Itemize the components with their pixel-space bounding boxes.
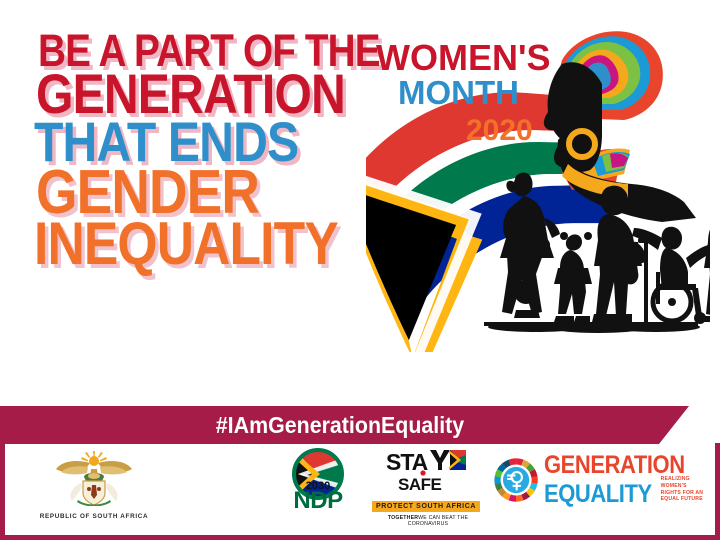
headline-line-5: INEQUALITY xyxy=(34,216,318,271)
frame-accent-bottom xyxy=(0,535,720,540)
ndp-logo-icon: 2030 NDP xyxy=(268,448,368,510)
logo-republic-of-south-africa: REPUBLIC OF SOUTH AFRICA xyxy=(24,448,164,520)
artwork-illustration: WOMEN'S MONTH 2020 xyxy=(366,22,710,352)
logo-row: REPUBLIC OF SOUTH AFRICA xyxy=(0,448,720,534)
coat-of-arms-icon xyxy=(24,448,164,506)
logo-stay-safe: STA SAFE PROTECT SOUTH AFRICA TOGETHERWE… xyxy=(372,448,484,527)
logo-ndp-2030: 2030 NDP xyxy=(268,448,368,515)
stay-safe-tagline: TOGETHERWE CAN BEAT THE CORONAVIRUS xyxy=(372,515,484,527)
tagline-line-4: EQUAL FUTURE xyxy=(661,496,704,503)
equality-word: EQUALITY xyxy=(544,484,652,505)
coat-of-arms-caption: REPUBLIC OF SOUTH AFRICA xyxy=(24,513,164,520)
generation-equality-tagline: REALIZING WOMEN'S RIGHTS FOR AN EQUAL FU… xyxy=(661,476,704,502)
headline-block: BE A PART OF THE GENERATION THAT ENDS GE… xyxy=(16,30,364,360)
year-title: 2020 xyxy=(466,114,533,147)
sdg-wheel-icon xyxy=(494,448,538,512)
poster-canvas: BE A PART OF THE GENERATION THAT ENDS GE… xyxy=(0,0,720,540)
stay-safe-icon: STA SAFE xyxy=(372,448,484,494)
hashtag-band xyxy=(0,406,720,444)
generation-word: GENERATION xyxy=(544,455,685,476)
hashtag-band-shape xyxy=(0,406,720,444)
safe-word: SAFE xyxy=(398,475,442,494)
ndp-label: NDP xyxy=(293,487,343,510)
womens-month-artwork: WOMEN'S MONTH 2020 xyxy=(366,22,710,352)
stay-safe-protect-bar: PROTECT SOUTH AFRICA xyxy=(372,501,480,512)
womens-title: WOMEN'S xyxy=(376,37,551,78)
logo-generation-equality: GENERATION EQUALITY REALIZING WOMEN'S RI… xyxy=(494,448,704,512)
month-title: MONTH xyxy=(398,74,519,111)
